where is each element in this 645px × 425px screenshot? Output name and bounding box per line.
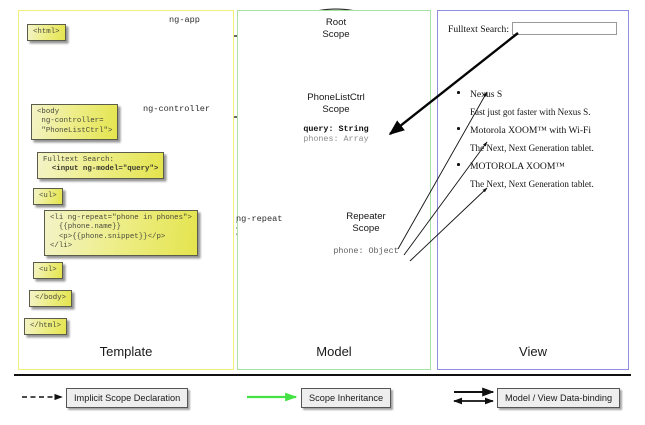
diagram-canvas: <html> <body ng-controller= "PhoneListCt… bbox=[0, 0, 645, 425]
legend-item-implicit-scope-declaration: Implicit Scope Declaration bbox=[66, 388, 188, 408]
data-binding-layer bbox=[0, 0, 645, 425]
legend-item-model-view-data-binding: Model / View Data-binding bbox=[497, 388, 620, 408]
panel-label-model: Model bbox=[237, 344, 431, 359]
panel-label-template: Template bbox=[18, 344, 234, 359]
edge-query-binding bbox=[390, 33, 518, 134]
panel-label-view: View bbox=[437, 344, 629, 359]
legend-item-scope-inheritance: Scope Inheritance bbox=[301, 388, 391, 408]
